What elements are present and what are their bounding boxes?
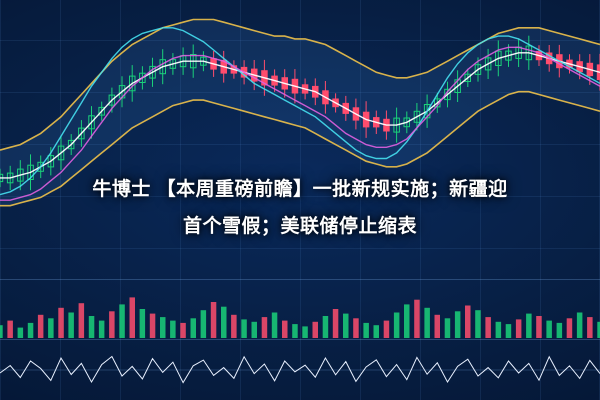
volume-pane (0, 280, 600, 338)
headline-line-1: 牛博士 【本周重磅前瞻】一批新规实施；新疆迎 (92, 174, 507, 201)
indicator-chart-svg (0, 340, 600, 400)
chart-screenshot: 牛博士 【本周重磅前瞻】一批新规实施；新疆迎 首个雪假；美联储停止缩表 (0, 0, 600, 400)
indicator-pane (0, 340, 600, 400)
volume-chart-svg (0, 280, 600, 338)
headline-overlay: 牛博士 【本周重磅前瞻】一批新规实施；新疆迎 首个雪假；美联储停止缩表 (0, 150, 600, 262)
headline-line-2: 首个雪假；美联储停止缩表 (183, 211, 417, 238)
